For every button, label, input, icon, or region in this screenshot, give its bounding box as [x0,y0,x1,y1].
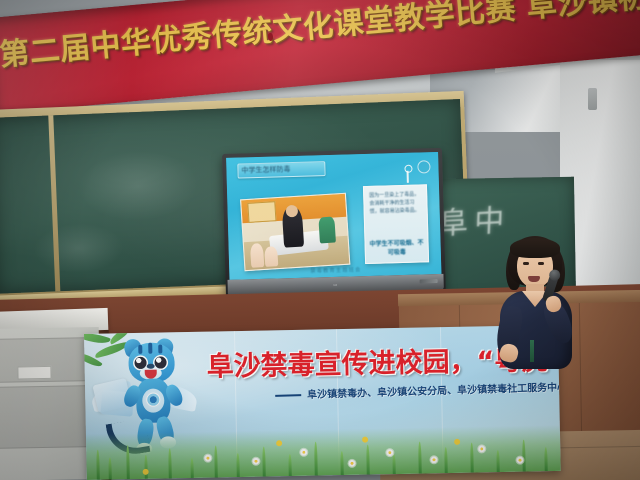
interactive-whiteboard[interactable]: 中学生怎样防毒 因为一旦染上 [222,148,446,300]
flower-icon [430,456,437,463]
dandelion-icon [362,437,368,443]
flower-icon [516,457,523,464]
slide-illustration [240,193,350,272]
wall-fixture-icon [588,88,597,110]
dandelion-icon [143,469,149,475]
slide-title: 中学生怎样防毒 [241,164,290,176]
subtitle-text: 阜沙镇禁毒办、阜沙镇公安分局、阜沙镇禁毒社工服务中心 [307,382,561,401]
slide-badge-icon [417,160,430,173]
presentation-slide: 中学生怎样防毒 因为一旦染上 [226,152,441,280]
grass-decoration [86,425,561,480]
bottom-banner-subtitle: 阜沙镇禁毒办、阜沙镇公安分局、阜沙镇禁毒社工服务中心 [275,381,561,404]
slide-footer-text: 禁 毒 教 育 主 题 班 会 [310,266,360,274]
slide-person-icon [400,165,415,185]
flower-icon [252,458,259,465]
slide-title-bar: 中学生怎样防毒 [237,161,325,178]
slide-caption: 中学生不可吸烟、不可吸毒 [369,238,423,258]
slide-text-box: 因为一旦染上了毒品，会消耗干净的生活习惯，就容易沾染毒品。 中学生不可吸烟、不可… [363,184,429,264]
classroom-photo-scene: 第二届中华优秀传统文化课堂教学比赛 阜沙镇初中组语文初赛 阜中 中学生怎样防毒 [0,0,640,480]
presenter [486,236,594,366]
dandelion-icon [276,440,282,446]
dandelion-icon [454,439,460,445]
screen-display[interactable]: 中学生怎样防毒 因为一旦染上 [226,152,441,280]
flower-icon [348,460,355,467]
slide-body-text: 因为一旦染上了毒品，会消耗干净的生活习惯，就容易沾染毒品。 [369,190,422,215]
subtitle-dash-icon [275,394,301,397]
flower-icon [204,455,211,462]
screen-sensor-icon [420,279,438,284]
flower-icon [478,445,485,452]
flower-icon [300,449,307,456]
screen-brand-logo: ▭ [333,282,338,287]
podium-label-tag [17,366,51,380]
